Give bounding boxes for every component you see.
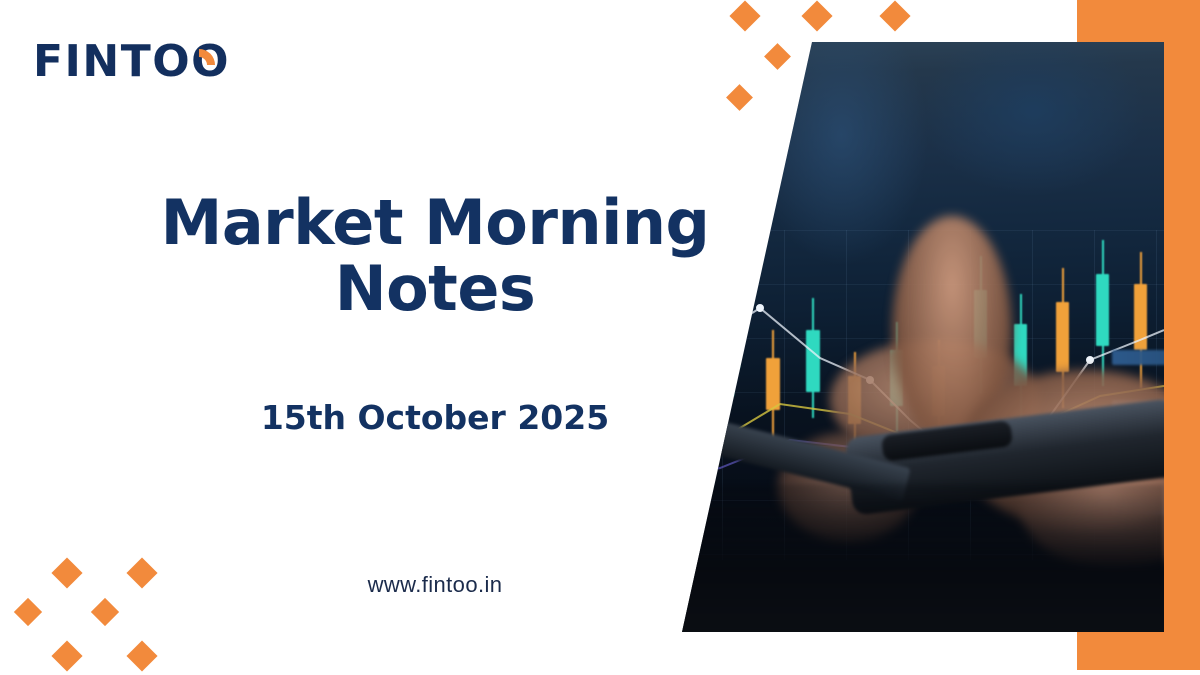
hero-photo-trading-smartphone bbox=[660, 40, 1164, 634]
page-title: Market Morning Notes bbox=[100, 190, 770, 323]
decorative-diamond bbox=[14, 598, 42, 626]
decorative-diamond bbox=[51, 557, 82, 588]
decorative-diamond bbox=[51, 640, 82, 671]
decorative-diamond bbox=[91, 598, 119, 626]
brand-logo[interactable]: FINTOO bbox=[33, 40, 230, 84]
decorative-diamond bbox=[764, 43, 791, 70]
photo-background bbox=[660, 40, 1164, 634]
photo-foreground-desk bbox=[660, 484, 1164, 634]
decorative-diamond bbox=[801, 0, 832, 31]
decorative-diamond bbox=[879, 0, 910, 31]
poster-canvas: FINTOO Market Morning Notes 15th October… bbox=[0, 0, 1200, 675]
brand-logo-text: FINTOO bbox=[33, 40, 230, 84]
website-url[interactable]: www.fintoo.in bbox=[100, 572, 770, 598]
decorative-diamond bbox=[726, 84, 753, 111]
decorative-diamond bbox=[126, 640, 157, 671]
page-title-line-1: Market Morning bbox=[100, 190, 770, 256]
page-title-line-2: Notes bbox=[100, 256, 770, 322]
publication-date: 15th October 2025 bbox=[100, 398, 770, 437]
decorative-diamond bbox=[729, 0, 760, 31]
